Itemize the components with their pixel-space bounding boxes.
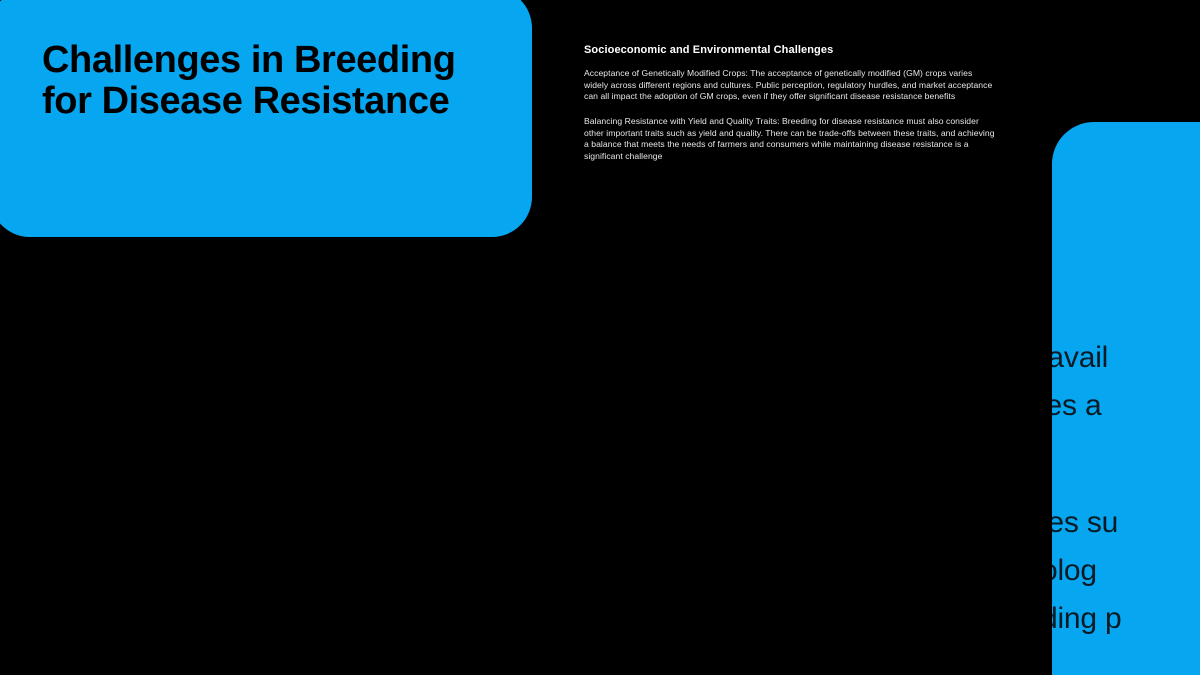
title-card: Challenges in Breeding for Disease Resis… [0, 0, 532, 237]
body-paragraph-acceptance-of-gm-crops: Acceptance of Genetically Modified Crops… [584, 68, 996, 102]
content-heading: Socioeconomic and Environmental Challeng… [584, 44, 996, 57]
next-slide-text-group-b: ogies su hnolog eeding p [1052, 499, 1200, 643]
next-slide-panel[interactable]: es avail ieties a ogies su hnolog eeding… [1052, 122, 1200, 675]
content-column: Socioeconomic and Environmental Challeng… [584, 44, 996, 162]
presentation-slide: Challenges in Breeding for Disease Resis… [0, 0, 1200, 675]
next-slide-text-group-a: es avail ieties a [1052, 334, 1200, 430]
body-paragraph-balancing-resistance: Balancing Resistance with Yield and Qual… [584, 116, 996, 162]
slide-title: Challenges in Breeding for Disease Resis… [42, 40, 502, 123]
